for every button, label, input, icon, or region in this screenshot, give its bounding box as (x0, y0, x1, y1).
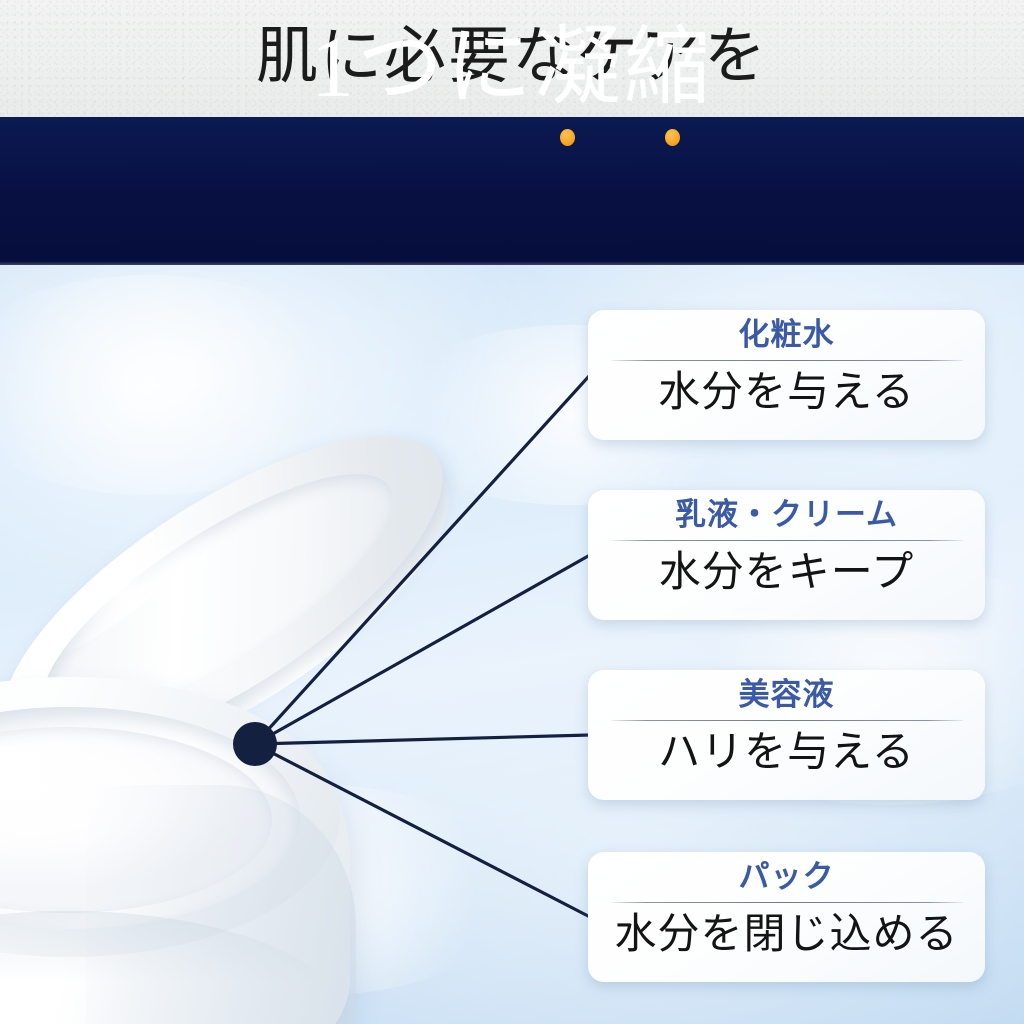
callout-description: 水分を閉じ込める (588, 912, 985, 959)
callout-title: 化粧水 (588, 318, 985, 353)
callout-description: 水分をキープ (588, 550, 985, 597)
cream-jar: Q10 Per (0, 355, 550, 1024)
callout-card-lotion[interactable]: 化粧水 水分を与える (588, 310, 985, 440)
advertisement-canvas: 肌に必要なケアを 1つに凝縮 (0, 0, 1024, 1024)
callout-divider (611, 540, 963, 541)
callout-divider (611, 720, 963, 721)
emphasis-dot-icon (560, 129, 575, 146)
callout-description: 水分を与える (588, 370, 985, 417)
callout-divider (611, 360, 963, 361)
callout-title: 美容液 (588, 678, 985, 713)
callout-card-emulsion-cream[interactable]: 乳液・クリーム 水分をキープ (588, 490, 985, 620)
callout-card-pack[interactable]: パック 水分を閉じ込める (588, 852, 985, 982)
callout-divider (611, 902, 963, 903)
subheadline-wrap: 1つに凝縮 (0, 0, 1024, 148)
callout-description: ハリを与える (588, 730, 985, 777)
callout-title: パック (588, 860, 985, 895)
emphasis-dot-icon (665, 129, 680, 146)
callout-card-serum[interactable]: 美容液 ハリを与える (588, 670, 985, 800)
page-subheadline: 1つに凝縮 (0, 24, 1024, 110)
callout-title: 乳液・クリーム (588, 498, 985, 533)
